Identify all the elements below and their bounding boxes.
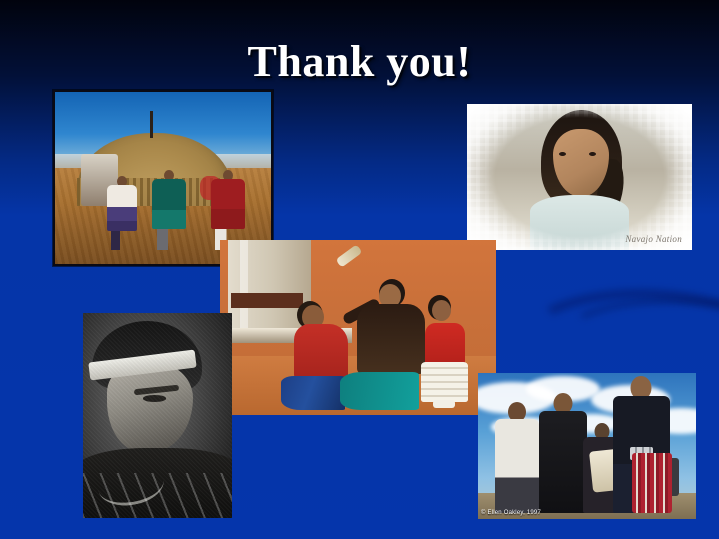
dancer-figure-right	[211, 170, 245, 250]
photo-women-brushing-hair[interactable]	[220, 240, 496, 415]
dancer-legs	[157, 229, 182, 250]
dancer-body	[211, 179, 245, 229]
photo-credit-text: © Ellen Oakley, 1997	[481, 509, 541, 517]
hogan-chimney	[150, 111, 153, 139]
woman-skirt	[281, 376, 346, 410]
group-person-second	[539, 393, 587, 513]
dancer-legs	[111, 231, 133, 250]
dancer-body	[107, 185, 137, 231]
presentation-slide: Thank you!	[0, 0, 719, 539]
woman-torso	[294, 324, 349, 381]
white-vignette-overlay	[467, 104, 692, 250]
child-figure	[421, 300, 468, 409]
dancer-figure-center	[152, 170, 186, 250]
person-body	[495, 419, 539, 513]
photo-group-under-sky[interactable]: © Ellen Oakley, 1997	[478, 373, 696, 519]
child-shoe	[433, 400, 456, 408]
photo-signature-watermark: Navajo Nation	[625, 234, 682, 244]
child-head	[432, 300, 451, 321]
film-grain-texture	[83, 313, 232, 518]
dancer-body	[152, 179, 186, 229]
photo-elder-portrait-bw[interactable]	[83, 313, 232, 518]
person-body	[539, 411, 587, 513]
slide-title: Thank you!	[0, 36, 719, 88]
child-skirt	[421, 362, 468, 401]
photo-group-under-sky-scene: © Ellen Oakley, 1997	[478, 373, 696, 519]
photo-women-brushing-hair-scene	[220, 240, 496, 415]
photo-girl-portrait[interactable]: Navajo Nation	[467, 104, 692, 250]
group-person-foreground-woman	[613, 376, 670, 513]
woman-torso	[357, 304, 425, 375]
woman-skirt	[340, 372, 419, 410]
photo-girl-portrait-scene: Navajo Nation	[467, 104, 692, 250]
woven-sash	[632, 453, 672, 513]
dancer-figure-left	[107, 176, 137, 250]
kneeling-woman-brushing	[352, 284, 429, 410]
child-torso	[425, 323, 464, 366]
group-person-first	[495, 402, 539, 513]
photo-dancers-hogan-scene	[55, 92, 271, 264]
photo-elder-portrait-bw-scene	[83, 313, 232, 518]
